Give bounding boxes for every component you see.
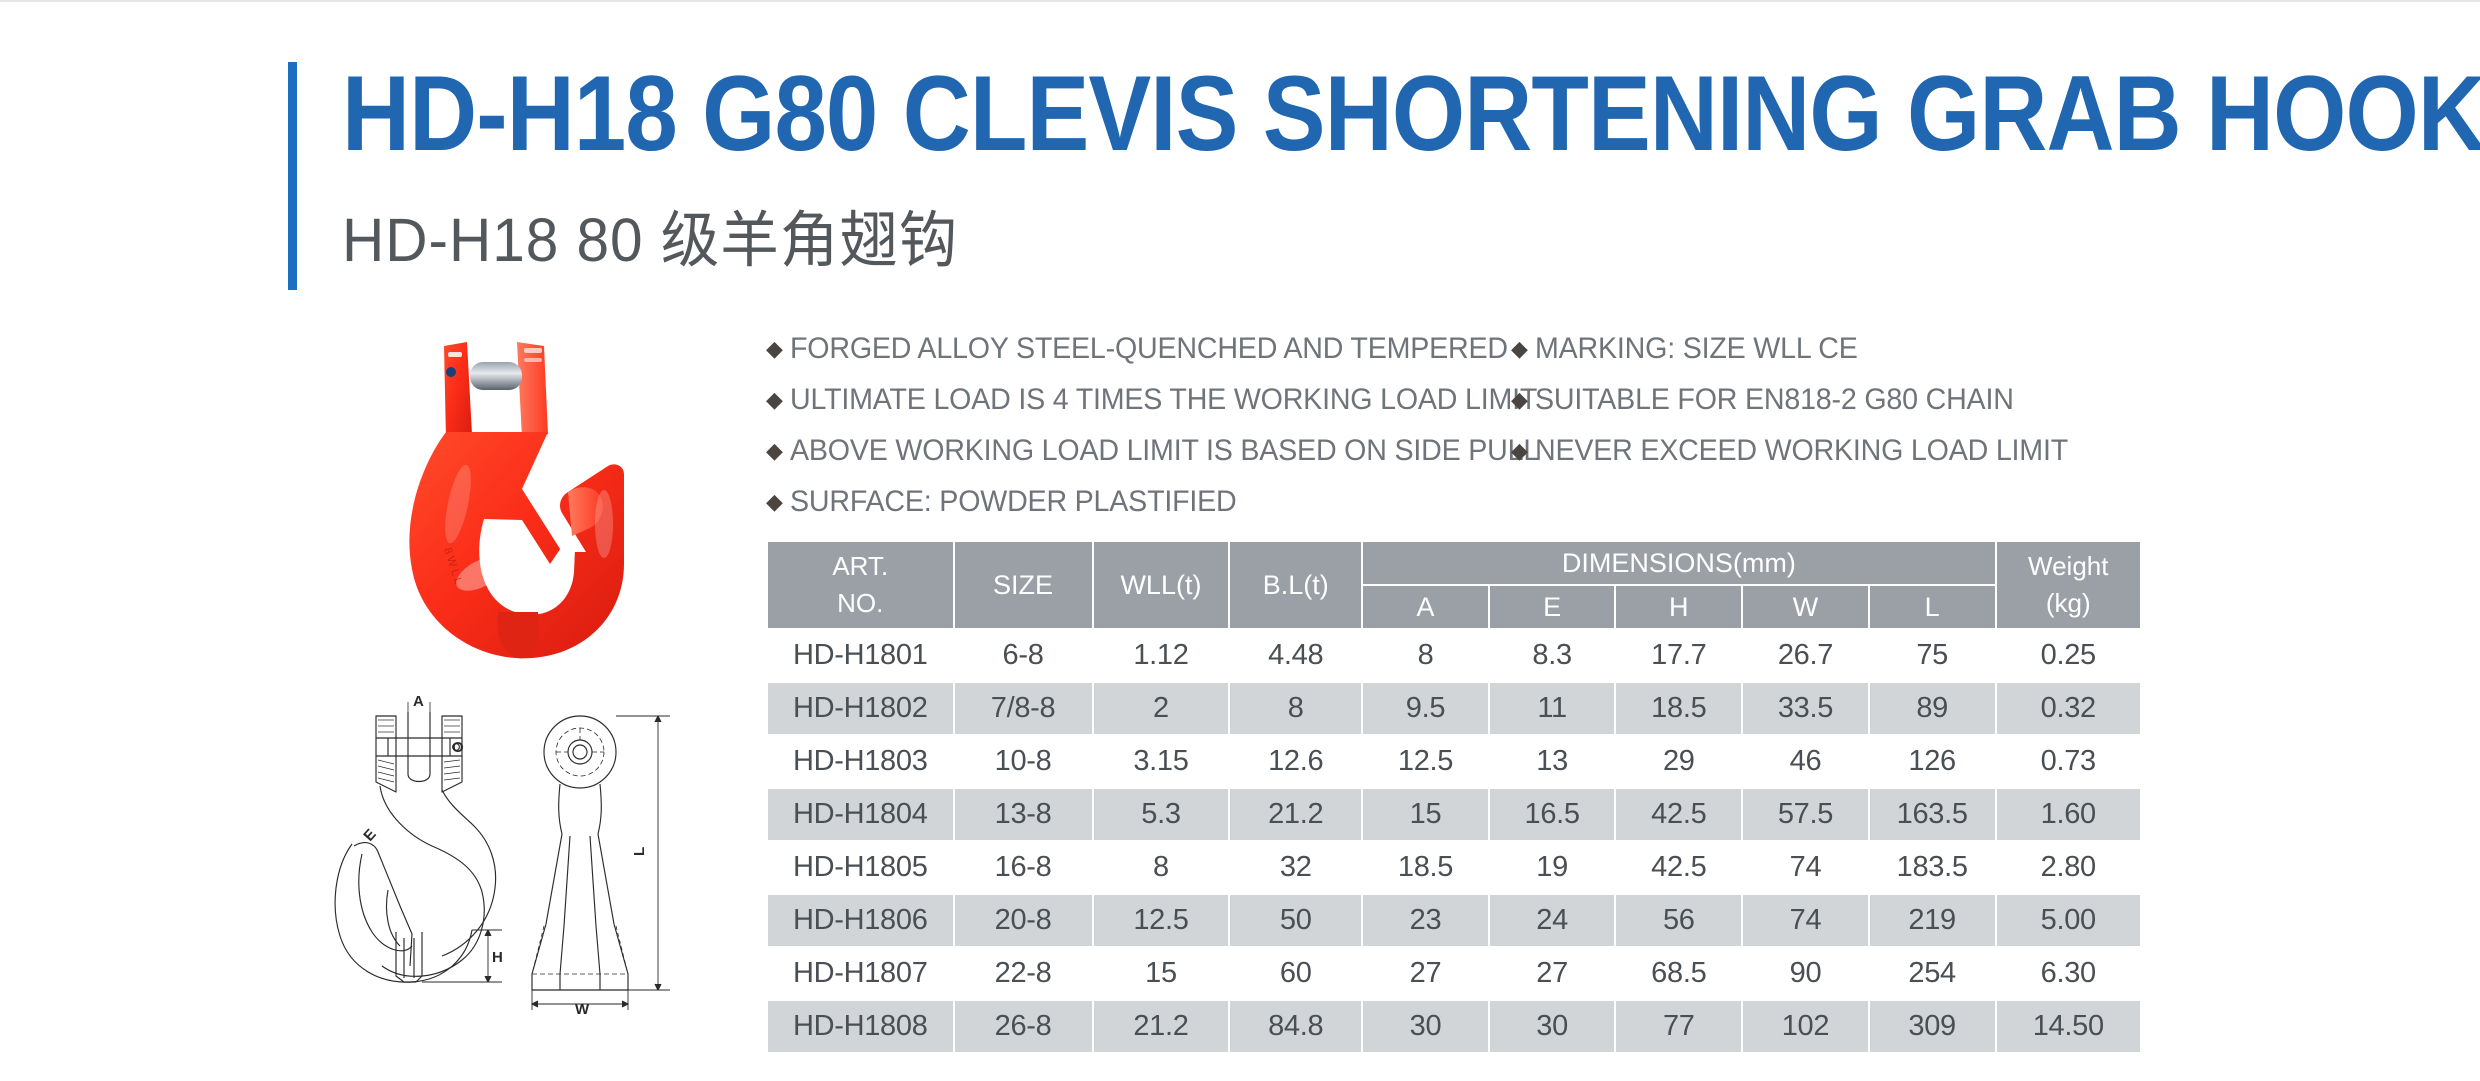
table-row: HD-H180516-883218.51942.574183.52.80 [768, 842, 2140, 893]
col-header-wll: WLL(t) [1094, 542, 1229, 628]
cell-w: 57.5 [1743, 789, 1868, 840]
cell-weight: 0.32 [1997, 683, 2140, 734]
art-no-line1: ART. [770, 548, 951, 585]
table-row: HD-H180310-83.1512.612.51329461260.73 [768, 736, 2140, 787]
cell-l: 309 [1870, 1001, 1995, 1052]
table-header: ART. NO. SIZE WLL(t) B.L(t) DIMENSIONS(m… [768, 542, 2140, 628]
cell-art-no: HD-H1801 [768, 630, 953, 681]
col-header-art-no: ART. NO. [768, 542, 953, 628]
col-header-dim-w: W [1743, 586, 1868, 628]
cell-art-no: HD-H1802 [768, 683, 953, 734]
table-row: HD-H180620-812.550232456742195.00 [768, 895, 2140, 946]
cell-e: 27 [1490, 948, 1615, 999]
feature-item: ◆ SUITABLE FOR EN818-2 G80 CHAIN [1511, 375, 2151, 425]
cell-wll: 2 [1094, 683, 1229, 734]
dim-label-a: A [413, 694, 424, 710]
cell-size: 22-8 [955, 948, 1092, 999]
grab-hook-photo-svg: 8 W L L [372, 314, 702, 674]
cell-wll: 12.5 [1094, 895, 1229, 946]
cell-size: 20-8 [955, 895, 1092, 946]
cell-bl: 32 [1230, 842, 1361, 893]
page-subtitle: HD-H18 80 级羊角翅钩 [342, 204, 958, 276]
accent-bar [288, 62, 297, 290]
cell-h: 77 [1616, 1001, 1741, 1052]
cell-a: 27 [1363, 948, 1488, 999]
cell-a: 23 [1363, 895, 1488, 946]
cell-size: 16-8 [955, 842, 1092, 893]
col-header-dimensions: DIMENSIONS(mm) [1363, 542, 1994, 584]
cell-weight: 2.80 [1997, 842, 2140, 893]
table-row: HD-H180826-821.284.830307710230914.50 [768, 1001, 2140, 1052]
col-header-size: SIZE [955, 542, 1092, 628]
feature-label: NEVER EXCEED WORKING LOAD LIMIT [1535, 426, 2068, 476]
cell-l: 183.5 [1870, 842, 1995, 893]
feature-item: ◆ MARKING: SIZE WLL CE [1511, 324, 2151, 374]
feature-label: SUITABLE FOR EN818-2 G80 CHAIN [1535, 375, 2014, 425]
specification-table: ART. NO. SIZE WLL(t) B.L(t) DIMENSIONS(m… [766, 540, 2142, 1054]
cell-l: 219 [1870, 895, 1995, 946]
dim-label-h: H [492, 949, 503, 966]
cell-weight: 1.60 [1997, 789, 2140, 840]
cell-l: 163.5 [1870, 789, 1995, 840]
cell-e: 24 [1490, 895, 1615, 946]
cell-w: 26.7 [1743, 630, 1868, 681]
cell-l: 75 [1870, 630, 1995, 681]
cell-e: 19 [1490, 842, 1615, 893]
col-header-dim-h: H [1616, 586, 1741, 628]
cell-weight: 5.00 [1997, 895, 2140, 946]
cell-e: 30 [1490, 1001, 1615, 1052]
cell-w: 90 [1743, 948, 1868, 999]
cell-art-no: HD-H1808 [768, 1001, 953, 1052]
cell-h: 18.5 [1616, 683, 1741, 734]
cell-wll: 3.15 [1094, 736, 1229, 787]
weight-line2: (kg) [1999, 585, 2138, 622]
features-column-right: ◆ MARKING: SIZE WLL CE ◆ SUITABLE FOR EN… [1511, 324, 2151, 477]
cell-e: 16.5 [1490, 789, 1615, 840]
cell-wll: 21.2 [1094, 1001, 1229, 1052]
diamond-bullet-icon: ◆ [1511, 324, 1535, 374]
page-title: HD-H18 G80 CLEVIS SHORTENING GRAB HOOK [342, 54, 2480, 172]
cell-l: 89 [1870, 683, 1995, 734]
features-column-left: ◆ FORGED ALLOY STEEL-QUENCHED AND TEMPER… [766, 324, 1506, 528]
feature-item: ◆ ABOVE WORKING LOAD LIMIT IS BASED ON S… [766, 426, 1506, 476]
cell-art-no: HD-H1806 [768, 895, 953, 946]
cell-bl: 50 [1230, 895, 1361, 946]
table-header-row-1: ART. NO. SIZE WLL(t) B.L(t) DIMENSIONS(m… [768, 542, 2140, 584]
dim-label-o: O [452, 739, 464, 756]
cell-h: 68.5 [1616, 948, 1741, 999]
cell-l: 254 [1870, 948, 1995, 999]
cell-e: 8.3 [1490, 630, 1615, 681]
feature-label: SURFACE: POWDER PLASTIFIED [790, 477, 1237, 527]
cell-a: 12.5 [1363, 736, 1488, 787]
cell-w: 33.5 [1743, 683, 1868, 734]
cell-size: 13-8 [955, 789, 1092, 840]
table-row: HD-H18027/8-8289.51118.533.5890.32 [768, 683, 2140, 734]
cell-h: 29 [1616, 736, 1741, 787]
table-body: HD-H18016-81.124.4888.317.726.7750.25HD-… [768, 630, 2140, 1052]
cell-h: 42.5 [1616, 842, 1741, 893]
cell-l: 126 [1870, 736, 1995, 787]
diamond-bullet-icon: ◆ [1511, 426, 1535, 476]
diamond-bullet-icon: ◆ [1511, 375, 1535, 425]
technical-drawing: A O E H L W [292, 694, 692, 1014]
dim-label-e: E [360, 826, 379, 845]
feature-label: MARKING: SIZE WLL CE [1535, 324, 1858, 374]
diamond-bullet-icon: ◆ [766, 375, 790, 425]
cell-w: 46 [1743, 736, 1868, 787]
feature-label: FORGED ALLOY STEEL-QUENCHED AND TEMPERED [790, 324, 1508, 374]
cell-wll: 1.12 [1094, 630, 1229, 681]
col-header-dim-e: E [1490, 586, 1615, 628]
weight-line1: Weight [1999, 548, 2138, 585]
cell-a: 9.5 [1363, 683, 1488, 734]
cell-art-no: HD-H1803 [768, 736, 953, 787]
table-row: HD-H180413-85.321.21516.542.557.5163.51.… [768, 789, 2140, 840]
cell-a: 30 [1363, 1001, 1488, 1052]
technical-drawing-svg: A O E H L W [292, 694, 692, 1014]
cell-bl: 12.6 [1230, 736, 1361, 787]
art-no-line2: NO. [770, 585, 951, 622]
feature-label: ABOVE WORKING LOAD LIMIT IS BASED ON SID… [790, 426, 1539, 476]
cell-h: 42.5 [1616, 789, 1741, 840]
cell-art-no: HD-H1805 [768, 842, 953, 893]
col-header-bl: B.L(t) [1230, 542, 1361, 628]
cell-art-no: HD-H1807 [768, 948, 953, 999]
cell-weight: 14.50 [1997, 1001, 2140, 1052]
col-header-weight: Weight (kg) [1997, 542, 2140, 628]
cell-size: 26-8 [955, 1001, 1092, 1052]
cell-bl: 60 [1230, 948, 1361, 999]
diamond-bullet-icon: ◆ [766, 426, 790, 476]
cell-bl: 8 [1230, 683, 1361, 734]
cell-wll: 15 [1094, 948, 1229, 999]
feature-item: ◆ FORGED ALLOY STEEL-QUENCHED AND TEMPER… [766, 324, 1506, 374]
cell-h: 56 [1616, 895, 1741, 946]
cell-wll: 8 [1094, 842, 1229, 893]
cell-weight: 0.73 [1997, 736, 2140, 787]
feature-label: ULTIMATE LOAD IS 4 TIMES THE WORKING LOA… [790, 375, 1537, 425]
diamond-bullet-icon: ◆ [766, 324, 790, 374]
cell-e: 13 [1490, 736, 1615, 787]
table-row: HD-H18016-81.124.4888.317.726.7750.25 [768, 630, 2140, 681]
cell-bl: 4.48 [1230, 630, 1361, 681]
diamond-bullet-icon: ◆ [766, 477, 790, 527]
cell-a: 15 [1363, 789, 1488, 840]
cell-w: 74 [1743, 895, 1868, 946]
feature-item: ◆ SURFACE: POWDER PLASTIFIED [766, 477, 1506, 527]
cell-bl: 84.8 [1230, 1001, 1361, 1052]
feature-item: ◆ NEVER EXCEED WORKING LOAD LIMIT [1511, 426, 2151, 476]
col-header-dim-l: L [1870, 586, 1995, 628]
cell-w: 74 [1743, 842, 1868, 893]
cell-art-no: HD-H1804 [768, 789, 953, 840]
cell-a: 18.5 [1363, 842, 1488, 893]
col-header-dim-a: A [1363, 586, 1488, 628]
cell-size: 7/8-8 [955, 683, 1092, 734]
cell-weight: 0.25 [1997, 630, 2140, 681]
cell-a: 8 [1363, 630, 1488, 681]
table-row: HD-H180722-81560272768.5902546.30 [768, 948, 2140, 999]
cell-w: 102 [1743, 1001, 1868, 1052]
cell-bl: 21.2 [1230, 789, 1361, 840]
title-block: HD-H18 G80 CLEVIS SHORTENING GRAB HOOK H… [288, 54, 2348, 294]
cell-e: 11 [1490, 683, 1615, 734]
cell-weight: 6.30 [1997, 948, 2140, 999]
product-photo: 8 W L L [372, 314, 702, 674]
dim-label-l: L [631, 847, 648, 856]
feature-item: ◆ ULTIMATE LOAD IS 4 TIMES THE WORKING L… [766, 375, 1506, 425]
cell-wll: 5.3 [1094, 789, 1229, 840]
cell-size: 6-8 [955, 630, 1092, 681]
cell-size: 10-8 [955, 736, 1092, 787]
dim-label-w: W [575, 1001, 590, 1014]
cell-h: 17.7 [1616, 630, 1741, 681]
